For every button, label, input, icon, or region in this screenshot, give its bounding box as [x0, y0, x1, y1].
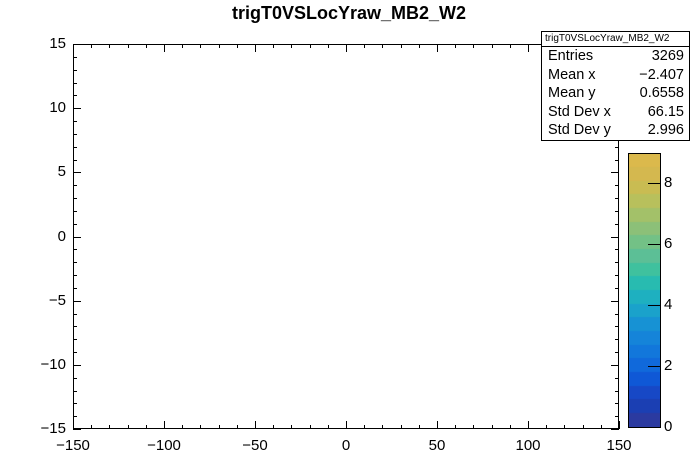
stats-row-value: 3269 — [652, 47, 684, 66]
colorbar-tick-label: 4 — [664, 296, 672, 313]
x-axis-minor-tick — [146, 425, 147, 429]
chart-root: trigT0VSLocYraw_MB2_W2 −150−100−50050100… — [0, 0, 698, 476]
y-axis-minor-tick — [615, 288, 619, 289]
stats-row-key: Std Dev x — [548, 103, 611, 122]
colorbar-tick-label: 2 — [664, 357, 672, 374]
y-axis-major-tick — [611, 172, 619, 173]
stats-row-key: Entries — [548, 47, 593, 66]
y-axis-major-tick — [611, 429, 619, 430]
y-axis-minor-tick — [73, 326, 77, 327]
y-axis-minor-tick — [73, 198, 77, 199]
x-axis-minor-tick — [291, 425, 292, 429]
x-axis-major-tick — [437, 44, 438, 52]
x-axis-minor-tick — [200, 425, 201, 429]
x-axis-minor-tick — [146, 44, 147, 48]
stats-row: Mean y0.6558 — [542, 84, 689, 103]
x-axis-minor-tick — [237, 44, 238, 48]
x-axis-minor-tick — [237, 425, 238, 429]
stats-row-key: Mean y — [548, 84, 596, 103]
x-axis-minor-tick — [364, 44, 365, 48]
y-axis-minor-tick — [73, 352, 77, 353]
x-axis-minor-tick — [328, 425, 329, 429]
x-axis-minor-tick — [382, 425, 383, 429]
y-axis-tick-label: −15 — [16, 420, 66, 437]
y-axis-minor-tick — [615, 391, 619, 392]
stats-row-value: 66.15 — [648, 103, 684, 122]
x-axis-major-tick — [619, 421, 620, 429]
colorbar-tick — [648, 427, 660, 428]
y-axis-minor-tick — [73, 403, 77, 404]
x-axis-minor-tick — [401, 425, 402, 429]
y-axis-minor-tick — [73, 211, 77, 212]
colorbar-tick-label: 8 — [664, 174, 672, 191]
colorbar-tick — [648, 366, 660, 367]
x-axis-minor-tick — [492, 425, 493, 429]
x-axis-minor-tick — [510, 44, 511, 48]
x-axis-minor-tick — [546, 425, 547, 429]
colorbar-tick — [648, 183, 660, 184]
x-axis-tick-label: −150 — [43, 437, 103, 454]
x-axis-minor-tick — [91, 425, 92, 429]
y-axis-tick-label: −10 — [16, 356, 66, 373]
stats-box-title: trigT0VSLocYraw_MB2_W2 — [542, 32, 689, 47]
y-axis-minor-tick — [73, 391, 77, 392]
y-axis-minor-tick — [615, 147, 619, 148]
x-axis-major-tick — [73, 44, 74, 52]
x-axis-minor-tick — [583, 425, 584, 429]
y-axis-tick-label: 5 — [16, 163, 66, 180]
x-axis-minor-tick — [419, 425, 420, 429]
x-axis-tick-label: 50 — [407, 437, 467, 454]
x-axis-major-tick — [346, 421, 347, 429]
y-axis-minor-tick — [73, 147, 77, 148]
stats-row-value: 2.996 — [648, 121, 684, 140]
page-title: trigT0VSLocYraw_MB2_W2 — [0, 3, 698, 24]
y-axis-minor-tick — [615, 211, 619, 212]
x-axis-minor-tick — [91, 44, 92, 48]
stats-row-value: −2.407 — [639, 66, 684, 85]
colorbar-tick — [648, 305, 660, 306]
y-axis-major-tick — [611, 237, 619, 238]
x-axis-minor-tick — [364, 425, 365, 429]
x-axis-minor-tick — [182, 425, 183, 429]
y-axis-minor-tick — [615, 378, 619, 379]
y-axis-minor-tick — [73, 83, 77, 84]
y-axis-major-tick — [611, 365, 619, 366]
y-axis-minor-tick — [73, 160, 77, 161]
x-axis-tick-label: 0 — [316, 437, 376, 454]
x-axis-tick-label: 100 — [498, 437, 558, 454]
y-axis-minor-tick — [615, 160, 619, 161]
x-axis-major-tick — [528, 421, 529, 429]
x-axis-major-tick — [255, 44, 256, 52]
x-axis-minor-tick — [128, 44, 129, 48]
y-axis-minor-tick — [73, 314, 77, 315]
y-axis-minor-tick — [73, 378, 77, 379]
x-axis-minor-tick — [182, 44, 183, 48]
y-axis-major-tick — [73, 365, 81, 366]
y-axis-major-tick — [73, 108, 81, 109]
colorbar-tick-label: 6 — [664, 235, 672, 252]
stats-row: Mean x−2.407 — [542, 66, 689, 85]
y-axis-minor-tick — [73, 134, 77, 135]
x-axis-major-tick — [255, 421, 256, 429]
y-axis-major-tick — [73, 172, 81, 173]
x-axis-minor-tick — [382, 44, 383, 48]
x-axis-minor-tick — [219, 425, 220, 429]
colorbar-tick-label: 0 — [664, 418, 672, 435]
stats-row: Entries3269 — [542, 47, 689, 66]
x-axis-minor-tick — [510, 425, 511, 429]
x-axis-minor-tick — [200, 44, 201, 48]
y-axis-minor-tick — [73, 416, 77, 417]
y-axis-minor-tick — [615, 352, 619, 353]
x-axis-minor-tick — [219, 44, 220, 48]
y-axis-minor-tick — [615, 339, 619, 340]
y-axis-tick-label: 15 — [16, 35, 66, 52]
y-axis-major-tick — [611, 301, 619, 302]
colorbar-canvas — [629, 154, 660, 427]
y-axis-minor-tick — [615, 275, 619, 276]
y-axis-tick-label: 10 — [16, 99, 66, 116]
stats-row: Std Dev y2.996 — [542, 121, 689, 140]
x-axis-minor-tick — [473, 425, 474, 429]
stats-row-key: Mean x — [548, 66, 596, 85]
x-axis-minor-tick — [109, 425, 110, 429]
x-axis-major-tick — [164, 421, 165, 429]
stats-row-value: 0.6558 — [640, 84, 684, 103]
y-axis-minor-tick — [615, 262, 619, 263]
y-axis-minor-tick — [615, 224, 619, 225]
plot-frame — [73, 44, 619, 429]
y-axis-minor-tick — [73, 57, 77, 58]
x-axis-minor-tick — [473, 44, 474, 48]
x-axis-minor-tick — [564, 425, 565, 429]
x-axis-major-tick — [346, 44, 347, 52]
y-axis-minor-tick — [73, 339, 77, 340]
y-axis-major-tick — [73, 44, 81, 45]
y-axis-minor-tick — [73, 121, 77, 122]
x-axis-minor-tick — [310, 425, 311, 429]
y-axis-minor-tick — [73, 224, 77, 225]
y-axis-major-tick — [73, 429, 81, 430]
y-axis-minor-tick — [73, 95, 77, 96]
y-axis-minor-tick — [615, 326, 619, 327]
x-axis-minor-tick — [492, 44, 493, 48]
stats-row: Std Dev x66.15 — [542, 103, 689, 122]
x-axis-minor-tick — [455, 425, 456, 429]
y-axis-minor-tick — [615, 403, 619, 404]
y-axis-minor-tick — [615, 198, 619, 199]
x-axis-minor-tick — [310, 44, 311, 48]
y-axis-minor-tick — [73, 185, 77, 186]
x-axis-minor-tick — [273, 44, 274, 48]
x-axis-minor-tick — [128, 425, 129, 429]
stats-box: trigT0VSLocYraw_MB2_W2 Entries3269Mean x… — [541, 31, 690, 141]
y-axis-major-tick — [73, 237, 81, 238]
y-axis-minor-tick — [615, 416, 619, 417]
y-axis-minor-tick — [615, 249, 619, 250]
stats-row-key: Std Dev y — [548, 121, 611, 140]
x-axis-major-tick — [528, 44, 529, 52]
x-axis-minor-tick — [401, 44, 402, 48]
x-axis-minor-tick — [455, 44, 456, 48]
y-axis-minor-tick — [73, 262, 77, 263]
x-axis-tick-label: −50 — [225, 437, 285, 454]
colorbar-gradient — [628, 153, 661, 428]
colorbar-tick — [648, 244, 660, 245]
y-axis-minor-tick — [73, 249, 77, 250]
x-axis-major-tick — [437, 421, 438, 429]
x-axis-minor-tick — [291, 44, 292, 48]
x-axis-minor-tick — [273, 425, 274, 429]
x-axis-minor-tick — [328, 44, 329, 48]
colorbar: 02468 — [628, 153, 661, 428]
y-axis-tick-label: −5 — [16, 292, 66, 309]
y-axis-minor-tick — [615, 185, 619, 186]
stats-box-rows: Entries3269Mean x−2.407Mean y0.6558Std D… — [542, 47, 689, 140]
y-axis-minor-tick — [615, 314, 619, 315]
y-axis-minor-tick — [73, 70, 77, 71]
y-axis-minor-tick — [73, 275, 77, 276]
x-axis-minor-tick — [109, 44, 110, 48]
x-axis-minor-tick — [601, 425, 602, 429]
x-axis-tick-label: −100 — [134, 437, 194, 454]
x-axis-major-tick — [73, 421, 74, 429]
y-axis-major-tick — [73, 301, 81, 302]
y-axis-tick-label: 0 — [16, 228, 66, 245]
x-axis-major-tick — [164, 44, 165, 52]
y-axis-minor-tick — [73, 288, 77, 289]
x-axis-tick-label: 150 — [589, 437, 649, 454]
x-axis-minor-tick — [419, 44, 420, 48]
